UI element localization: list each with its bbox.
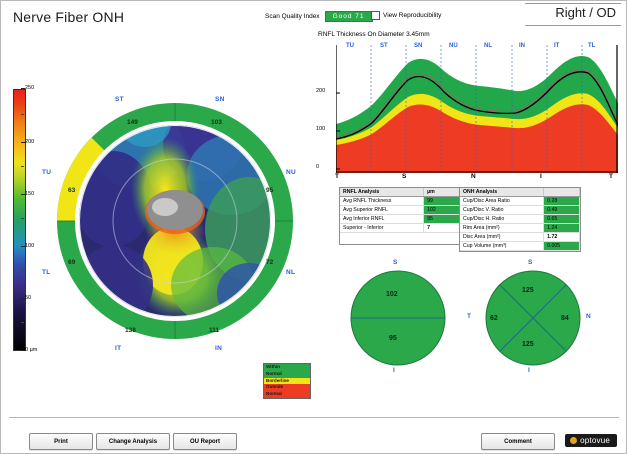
onh-row-value-0: 0.28 (544, 197, 580, 206)
rnfl-table-header-unit: µm (424, 188, 460, 197)
sector-value-nl: 72 (266, 259, 273, 266)
rnfl-row-label-3: Superior - Inferior (340, 224, 424, 233)
rnfl-row-label-1: Avg Superior RNFL (340, 206, 424, 215)
rnfl-row-label-2: Avg Inferior RNFL (340, 215, 424, 224)
quadrant-label-temporal: T (467, 313, 471, 320)
view-reproducibility-label: View Reproducibility (383, 12, 441, 19)
table-row: Cup/Disc Area Ratio 0.28 (460, 197, 580, 206)
chart-xtick-n: N (471, 173, 476, 180)
table-row: Disc Area (mm²) 1.72 (460, 233, 580, 242)
sector-value-tl: 69 (68, 259, 75, 266)
colorbar-minor-tick (21, 166, 24, 167)
table-row: Cup/Disc V. Ratio 0.49 (460, 206, 580, 215)
sector-label-sn: SN (215, 96, 225, 103)
scan-quality-badge: Good 71 (325, 11, 373, 22)
scan-quality-index: Scan Quality Index Good 71 (265, 11, 373, 22)
table-row: Cup/Disc H. Ratio 0.65 (460, 215, 580, 224)
rnfl-row-value-1: 102 (424, 206, 460, 215)
rnfl-analysis-table[interactable]: RNFL Analysis µm Avg RNFL Thickness 99 A… (339, 187, 461, 245)
legend-row-borderline: Borderline (264, 378, 310, 385)
chart-xtick-t-right: T (609, 173, 613, 180)
onh-table-header-unit (544, 188, 580, 197)
sector-label-in: IN (215, 345, 222, 352)
sector-label-tu: TU (42, 169, 51, 176)
legend-row-normal-top: Normal (264, 371, 310, 378)
sector-label-tl: TL (42, 269, 51, 276)
classification-legend: Within Normal Borderline Outside Normal (263, 363, 311, 399)
onh-row-value-3: 1.24 (544, 224, 580, 233)
logo-dot-icon (570, 437, 577, 444)
rnfl-thickness-chart[interactable]: RNFL Thickness On Diameter 3.45mm TU ST … (318, 31, 618, 181)
logo-text: optovue (580, 436, 610, 445)
sector-value-sn: 103 (211, 119, 222, 126)
nerve-fiber-onh-window: Nerve Fiber ONH Scan Quality Index Good … (0, 0, 627, 454)
print-button[interactable]: Print (29, 433, 93, 450)
hemisphere-graphic (343, 270, 453, 366)
chart-xtick-s: S (402, 173, 406, 180)
chart-title: RNFL Thickness On Diameter 3.45mm (318, 31, 430, 38)
chart-xtick-t-left: T (335, 173, 339, 180)
onh-row-value-2: 0.65 (544, 215, 580, 224)
hemisphere-label-superior: S (393, 259, 397, 266)
onh-row-label-2: Cup/Disc H. Ratio (460, 215, 544, 224)
sector-label-st: ST (115, 96, 124, 103)
hemisphere-label-inferior: I (393, 367, 395, 374)
rnfl-row-value-3: 7 (424, 224, 460, 233)
onh-row-value-1: 0.49 (544, 206, 580, 215)
view-reproducibility-checkbox[interactable]: View Reproducibility (371, 11, 441, 20)
table-row: Avg RNFL Thickness 99 (340, 197, 460, 206)
table-row-spacer (340, 233, 460, 245)
header-divider-top (525, 3, 621, 4)
colorbar-minor-tick (21, 322, 24, 323)
comment-button[interactable]: Comment (481, 433, 555, 450)
colorbar-unit-label: 0 µm (25, 347, 37, 353)
sector-label-nl: NL (286, 269, 295, 276)
checkbox-icon[interactable] (371, 11, 380, 20)
table-row: Rim Area (mm²) 1.24 (460, 224, 580, 233)
colorbar-tick-50: 50 (25, 295, 31, 301)
chart-plot-area (336, 45, 618, 173)
table-row: Avg Superior RNFL 102 (340, 206, 460, 215)
ou-report-button[interactable]: OU Report (173, 433, 237, 450)
onh-row-label-4: Disc Area (mm²) (460, 233, 544, 242)
optovue-logo: optovue (565, 434, 617, 447)
change-analysis-button[interactable]: Change Analysis (96, 433, 170, 450)
rnfl-row-value-0: 99 (424, 197, 460, 206)
sector-value-tu: 63 (68, 187, 75, 194)
legend-row-normal-bot: Normal (264, 391, 310, 398)
sector-label-nu: NU (286, 169, 296, 176)
table-row: Avg Inferior RNFL 95 (340, 215, 460, 224)
colorbar-tick-150: 150 (25, 191, 34, 197)
sector-value-nu: 95 (266, 187, 273, 194)
colorbar-tick-200: 200 (25, 139, 34, 145)
rnfl-row-value-2: 95 (424, 215, 460, 224)
header-divider-bottom (525, 25, 621, 26)
table-header-row: RNFL Analysis µm (340, 188, 460, 197)
onh-map-graphic (53, 79, 298, 364)
table-row: Cup Volume (mm³) 0.005 (460, 242, 580, 251)
table-row: Superior - Inferior 7 (340, 224, 460, 233)
onh-row-label-0: Cup/Disc Area Ratio (460, 197, 544, 206)
legend-row-outside: Outside (264, 384, 310, 391)
colorbar-minor-tick (21, 218, 24, 219)
rnfl-row-label-0: Avg RNFL Thickness (340, 197, 424, 206)
onh-row-value-5: 0.005 (544, 242, 580, 251)
quadrant-value-nasal: 84 (561, 315, 569, 322)
colorbar-minor-tick (21, 114, 24, 115)
legend-row-within: Within (264, 364, 310, 371)
hemisphere-value-inferior: 95 (389, 335, 397, 342)
hemisphere-value-superior: 102 (386, 291, 398, 298)
chart-xtick-i: I (540, 173, 542, 180)
sector-value-it: 138 (125, 327, 136, 334)
quadrant-label-inferior: I (528, 367, 530, 374)
hemisphere-thickness-chart[interactable]: S I 102 95 (341, 259, 461, 379)
chart-ytick-200: 200 (316, 88, 332, 94)
onh-row-label-3: Rim Area (mm²) (460, 224, 544, 233)
onh-row-label-5: Cup Volume (mm³) (460, 242, 544, 251)
onh-thickness-map[interactable]: ST SN NU NL IN IT TL TU 149 103 95 72 11… (53, 79, 298, 364)
scan-quality-label: Scan Quality Index (265, 13, 320, 20)
quadrant-label-superior: S (528, 259, 532, 266)
onh-row-label-1: Cup/Disc V. Ratio (460, 206, 544, 215)
quadrant-thickness-chart[interactable]: S I T N 125 84 125 62 (476, 259, 606, 379)
sector-label-it: IT (115, 345, 121, 352)
page-title: Nerve Fiber ONH (13, 9, 124, 25)
onh-row-value-4: 1.72 (544, 233, 580, 242)
quadrant-value-inferior: 125 (522, 341, 534, 348)
colorbar-minor-tick (21, 270, 24, 271)
colorbar-tick-100: 100 (25, 243, 34, 249)
onh-table-header-label: ONH Analysis (460, 188, 544, 197)
rnfl-table-header-label: RNFL Analysis (340, 188, 424, 197)
quadrant-value-temporal: 62 (490, 315, 498, 322)
sector-value-st: 149 (127, 119, 138, 126)
quadrant-value-superior: 125 (522, 287, 534, 294)
sector-value-in: 111 (209, 327, 219, 334)
table-header-row: ONH Analysis (460, 188, 580, 197)
chart-ytick-100: 100 (316, 126, 332, 132)
colorbar-tick-250: 250 (25, 85, 34, 91)
footer-divider (9, 417, 619, 418)
chart-ytick-0: 0 (316, 164, 332, 170)
onh-analysis-table[interactable]: ONH Analysis Cup/Disc Area Ratio 0.28 Cu… (459, 187, 581, 252)
eye-laterality-label: Right / OD (555, 5, 616, 20)
